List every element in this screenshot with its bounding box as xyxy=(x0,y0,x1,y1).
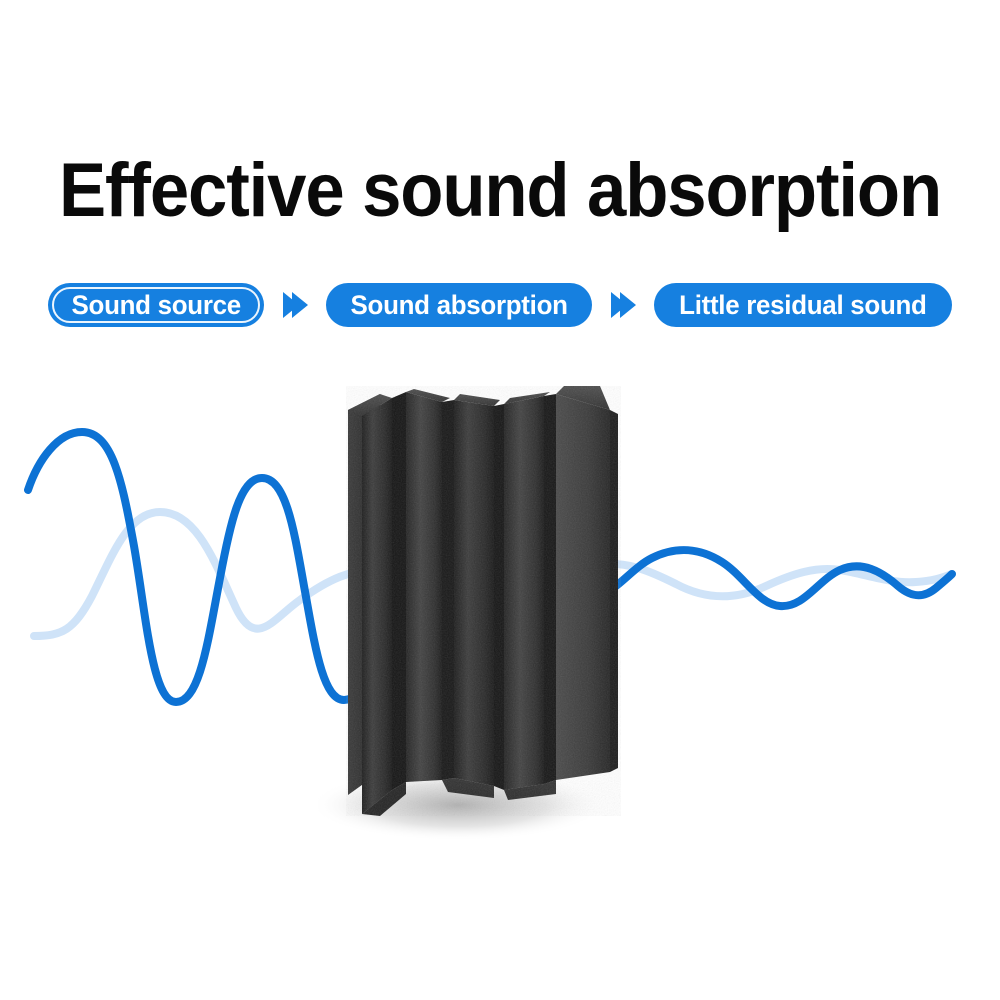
foam-body xyxy=(348,386,618,816)
infographic-canvas: Effective sound absorption Sound source … xyxy=(0,0,1000,1000)
step-pill-label: Sound source xyxy=(71,291,240,319)
acoustic-foam-bass-trap xyxy=(318,380,648,840)
step-pill-label: Sound absorption xyxy=(351,291,568,319)
step-pill-label: Little residual sound xyxy=(680,291,927,319)
